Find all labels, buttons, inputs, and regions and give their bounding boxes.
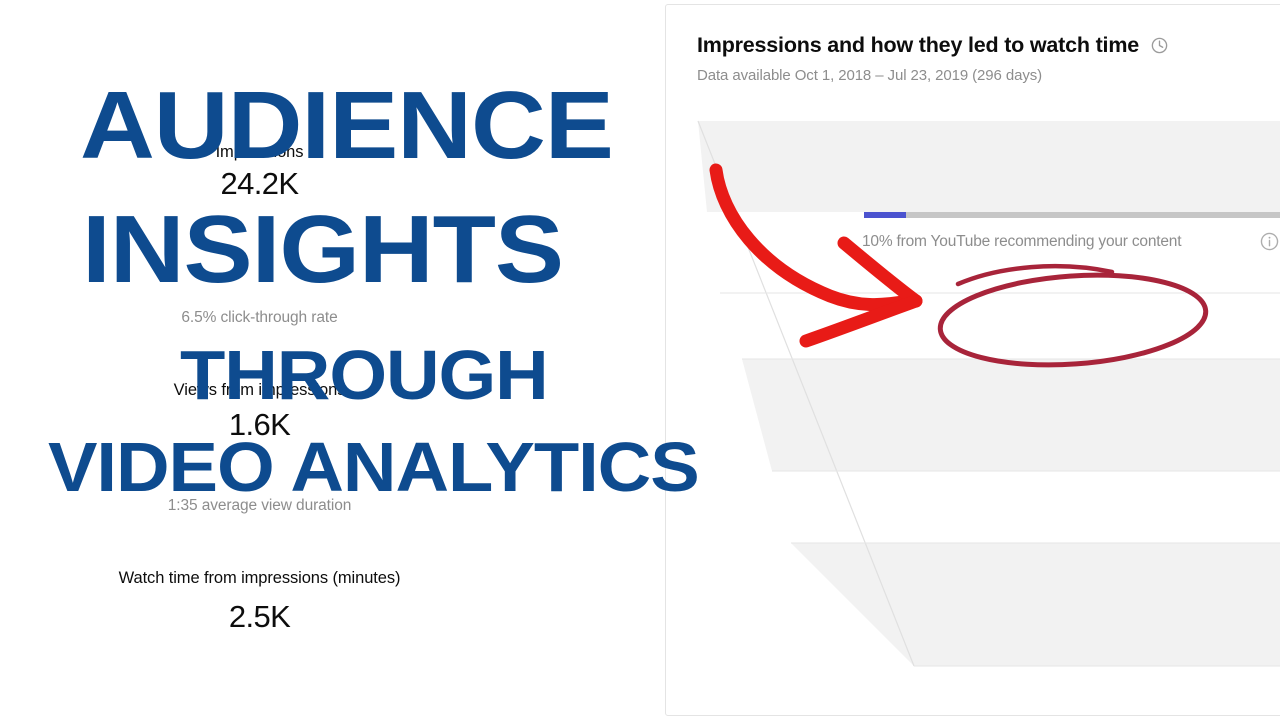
traffic-source-bar-track [864, 212, 1280, 218]
promo-title-line-4: VIDEO ANALYTICS [48, 432, 699, 502]
funnel-stage-impressions-value: 24.2K [0, 166, 587, 202]
funnel-stage-impressions-label: Impressions [0, 143, 587, 162]
traffic-source-bar-fill [864, 212, 906, 218]
average-view-duration-label: 1:35 average view duration [0, 497, 587, 515]
funnel-band-views [742, 359, 1280, 471]
funnel-stage-views-label: Views from impressions [0, 381, 587, 400]
promo-title-line-2: INSIGHTS [82, 202, 563, 298]
funnel-shapes [666, 5, 1280, 716]
promo-title-line-3: THROUGH [180, 340, 548, 410]
funnel-band-impressions [698, 121, 1280, 212]
funnel-band-watchtime [791, 543, 1280, 666]
funnel-stage-watchtime-value: 2.5K [0, 599, 587, 635]
promo-title-line-1: AUDIENCE [80, 78, 613, 174]
promo-title-block: AUDIENCE INSIGHTS THROUGH VIDEO ANALYTIC… [0, 0, 720, 720]
impressions-funnel-card: Impressions and how they led to watch ti… [665, 4, 1280, 716]
funnel-stage-views-value: 1.6K [0, 407, 587, 443]
traffic-source-label: 10% from YouTube recommending your conte… [862, 233, 1255, 251]
funnel-band-ctr [720, 293, 1280, 359]
click-through-rate-label: 6.5% click-through rate [0, 309, 587, 327]
info-icon[interactable] [1259, 231, 1280, 252]
traffic-source-row: 10% from YouTube recommending your conte… [862, 231, 1280, 252]
funnel-band-avd [772, 471, 1280, 543]
funnel-chart [666, 5, 1280, 716]
funnel-stage-watchtime-label: Watch time from impressions (minutes) [0, 569, 587, 588]
